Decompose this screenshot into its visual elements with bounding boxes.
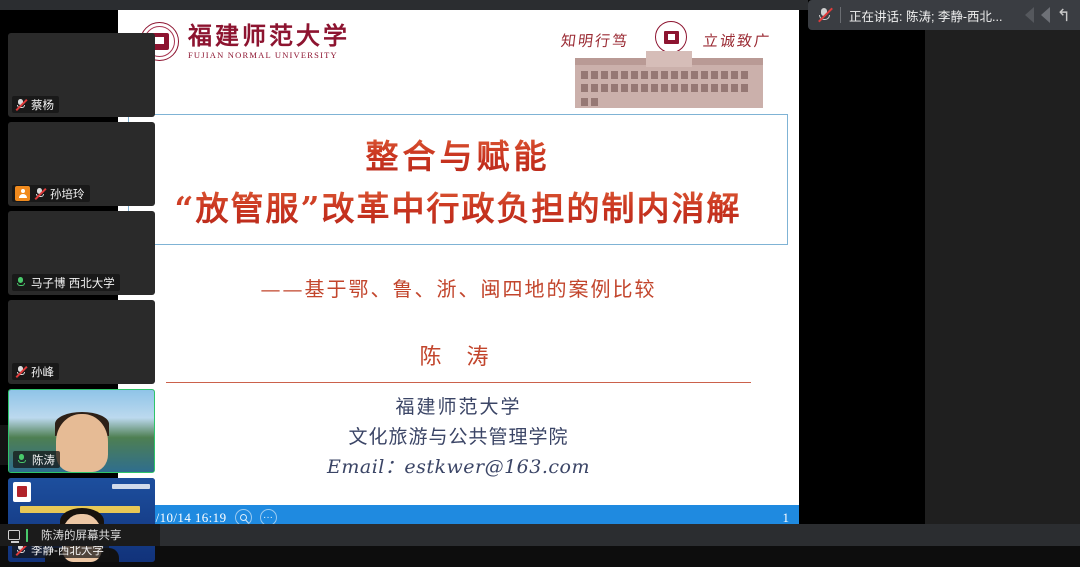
mic-muted-icon xyxy=(15,365,27,378)
mic-on-icon xyxy=(26,529,35,542)
avatar xyxy=(55,48,109,102)
slide-subtitle: ——基于鄂、鲁、浙、闽四地的案例比较 xyxy=(118,273,799,302)
participant-rail xyxy=(925,0,1080,546)
participant-tile-sunpeiling[interactable]: 孙培玲 xyxy=(8,122,155,206)
active-speaker-bar: 正在讲话: 陈涛; 李静-西北... ↰ xyxy=(808,0,1080,30)
mic-on-icon xyxy=(15,276,27,289)
participant-name: 马子博 西北大学 xyxy=(31,275,115,291)
university-mini-seal-icon xyxy=(655,21,687,53)
slide-title-line1: 整合与赋能 xyxy=(366,130,551,178)
participant-tile-mazibo[interactable]: 马子博 西北大学 xyxy=(8,211,155,295)
window-top-strip xyxy=(0,0,808,10)
university-name-cn: 福建师范大学 xyxy=(188,23,350,48)
avatar xyxy=(55,315,109,369)
slide-title-box: 整合与赋能 “放管服”改革中行政负担的制内消解 xyxy=(128,114,788,245)
mic-muted-icon xyxy=(34,187,46,200)
taskbar-item-label: 陈涛的屏幕共享 xyxy=(41,527,122,543)
chevron-right-icon[interactable] xyxy=(1025,7,1034,23)
participant-tile-lijing[interactable]: 李静-西北大学 xyxy=(8,478,155,562)
participant-nameplate: 陈涛 xyxy=(13,451,60,468)
tree-graphic xyxy=(767,82,789,108)
mic-muted-icon xyxy=(817,7,832,23)
slide-affiliation: 福建师范大学 文化旅游与公共管理学院 Email：estkwer@163.com xyxy=(118,392,799,479)
participant-name: 蔡杨 xyxy=(31,97,54,113)
participant-name: 陈涛 xyxy=(32,452,55,468)
tree-graphic xyxy=(551,82,573,108)
slide-title-line2: “放管服”改革中行政负担的制内消解 xyxy=(175,182,742,230)
affiliation-line-2: 文化旅游与公共管理学院 xyxy=(118,422,799,449)
university-name-en: FUJIAN NORMAL UNIVERSITY xyxy=(188,50,350,60)
shared-screen-slide[interactable]: 福建师范大学 FUJIAN NORMAL UNIVERSITY 知明行笃 立诚致… xyxy=(118,10,799,508)
participant-tile-sunfeng[interactable]: 孙峰 xyxy=(8,300,155,384)
university-logo: 福建师范大学 FUJIAN NORMAL UNIVERSITY xyxy=(140,22,350,61)
avatar xyxy=(55,226,109,280)
divider xyxy=(840,7,841,23)
host-badge-icon xyxy=(15,186,30,201)
taskbar-item-screenshare[interactable]: 陈涛的屏幕共享 xyxy=(0,524,160,546)
affiliation-email: Email：estkwer@163.com xyxy=(118,452,799,479)
zoom-meeting-window: 录制中 福建师范大学 FUJIAN NORMAL UNIVERSITY 知明行笃 xyxy=(0,0,1080,546)
participant-nameplate: 孙峰 xyxy=(12,363,59,380)
participant-tile-chentao[interactable]: 陈涛 xyxy=(8,389,155,473)
screen-share-icon xyxy=(8,530,20,540)
calligraphy-left: 知明行笃 xyxy=(560,30,631,51)
slide-author: 陈 涛 xyxy=(118,339,799,371)
mic-muted-icon xyxy=(15,98,27,111)
slide-content: 福建师范大学 FUJIAN NORMAL UNIVERSITY 知明行笃 立诚致… xyxy=(118,10,799,508)
calligraphy-right: 立诚致广 xyxy=(702,30,773,51)
back-arrow-icon[interactable]: ↰ xyxy=(1057,7,1071,24)
divider xyxy=(166,382,751,383)
building-graphic xyxy=(575,58,763,108)
active-speaker-label: 正在讲话: 陈涛; 李静-西北... xyxy=(849,6,1002,25)
participant-nameplate: 蔡杨 xyxy=(12,96,59,113)
avatar xyxy=(55,137,109,191)
participant-nameplate: 孙培玲 xyxy=(12,185,90,202)
participant-tiles: 蔡杨 孙培玲 马子博 西北大学 孙峰 xyxy=(8,33,155,567)
taskbar: 陈涛的屏幕共享 xyxy=(0,524,1080,546)
participant-name: 孙峰 xyxy=(31,364,54,380)
chevron-right-icon[interactable] xyxy=(1041,7,1050,23)
participant-tile-caiyang[interactable]: 蔡杨 xyxy=(8,33,155,117)
tree-graphic xyxy=(789,80,799,106)
campus-building-illustration: 知明行笃 立诚致广 xyxy=(543,18,793,110)
affiliation-line-1: 福建师范大学 xyxy=(118,392,799,419)
participant-name: 孙培玲 xyxy=(50,186,85,202)
mic-on-icon xyxy=(16,453,28,466)
participant-nameplate: 马子博 西北大学 xyxy=(12,274,120,291)
